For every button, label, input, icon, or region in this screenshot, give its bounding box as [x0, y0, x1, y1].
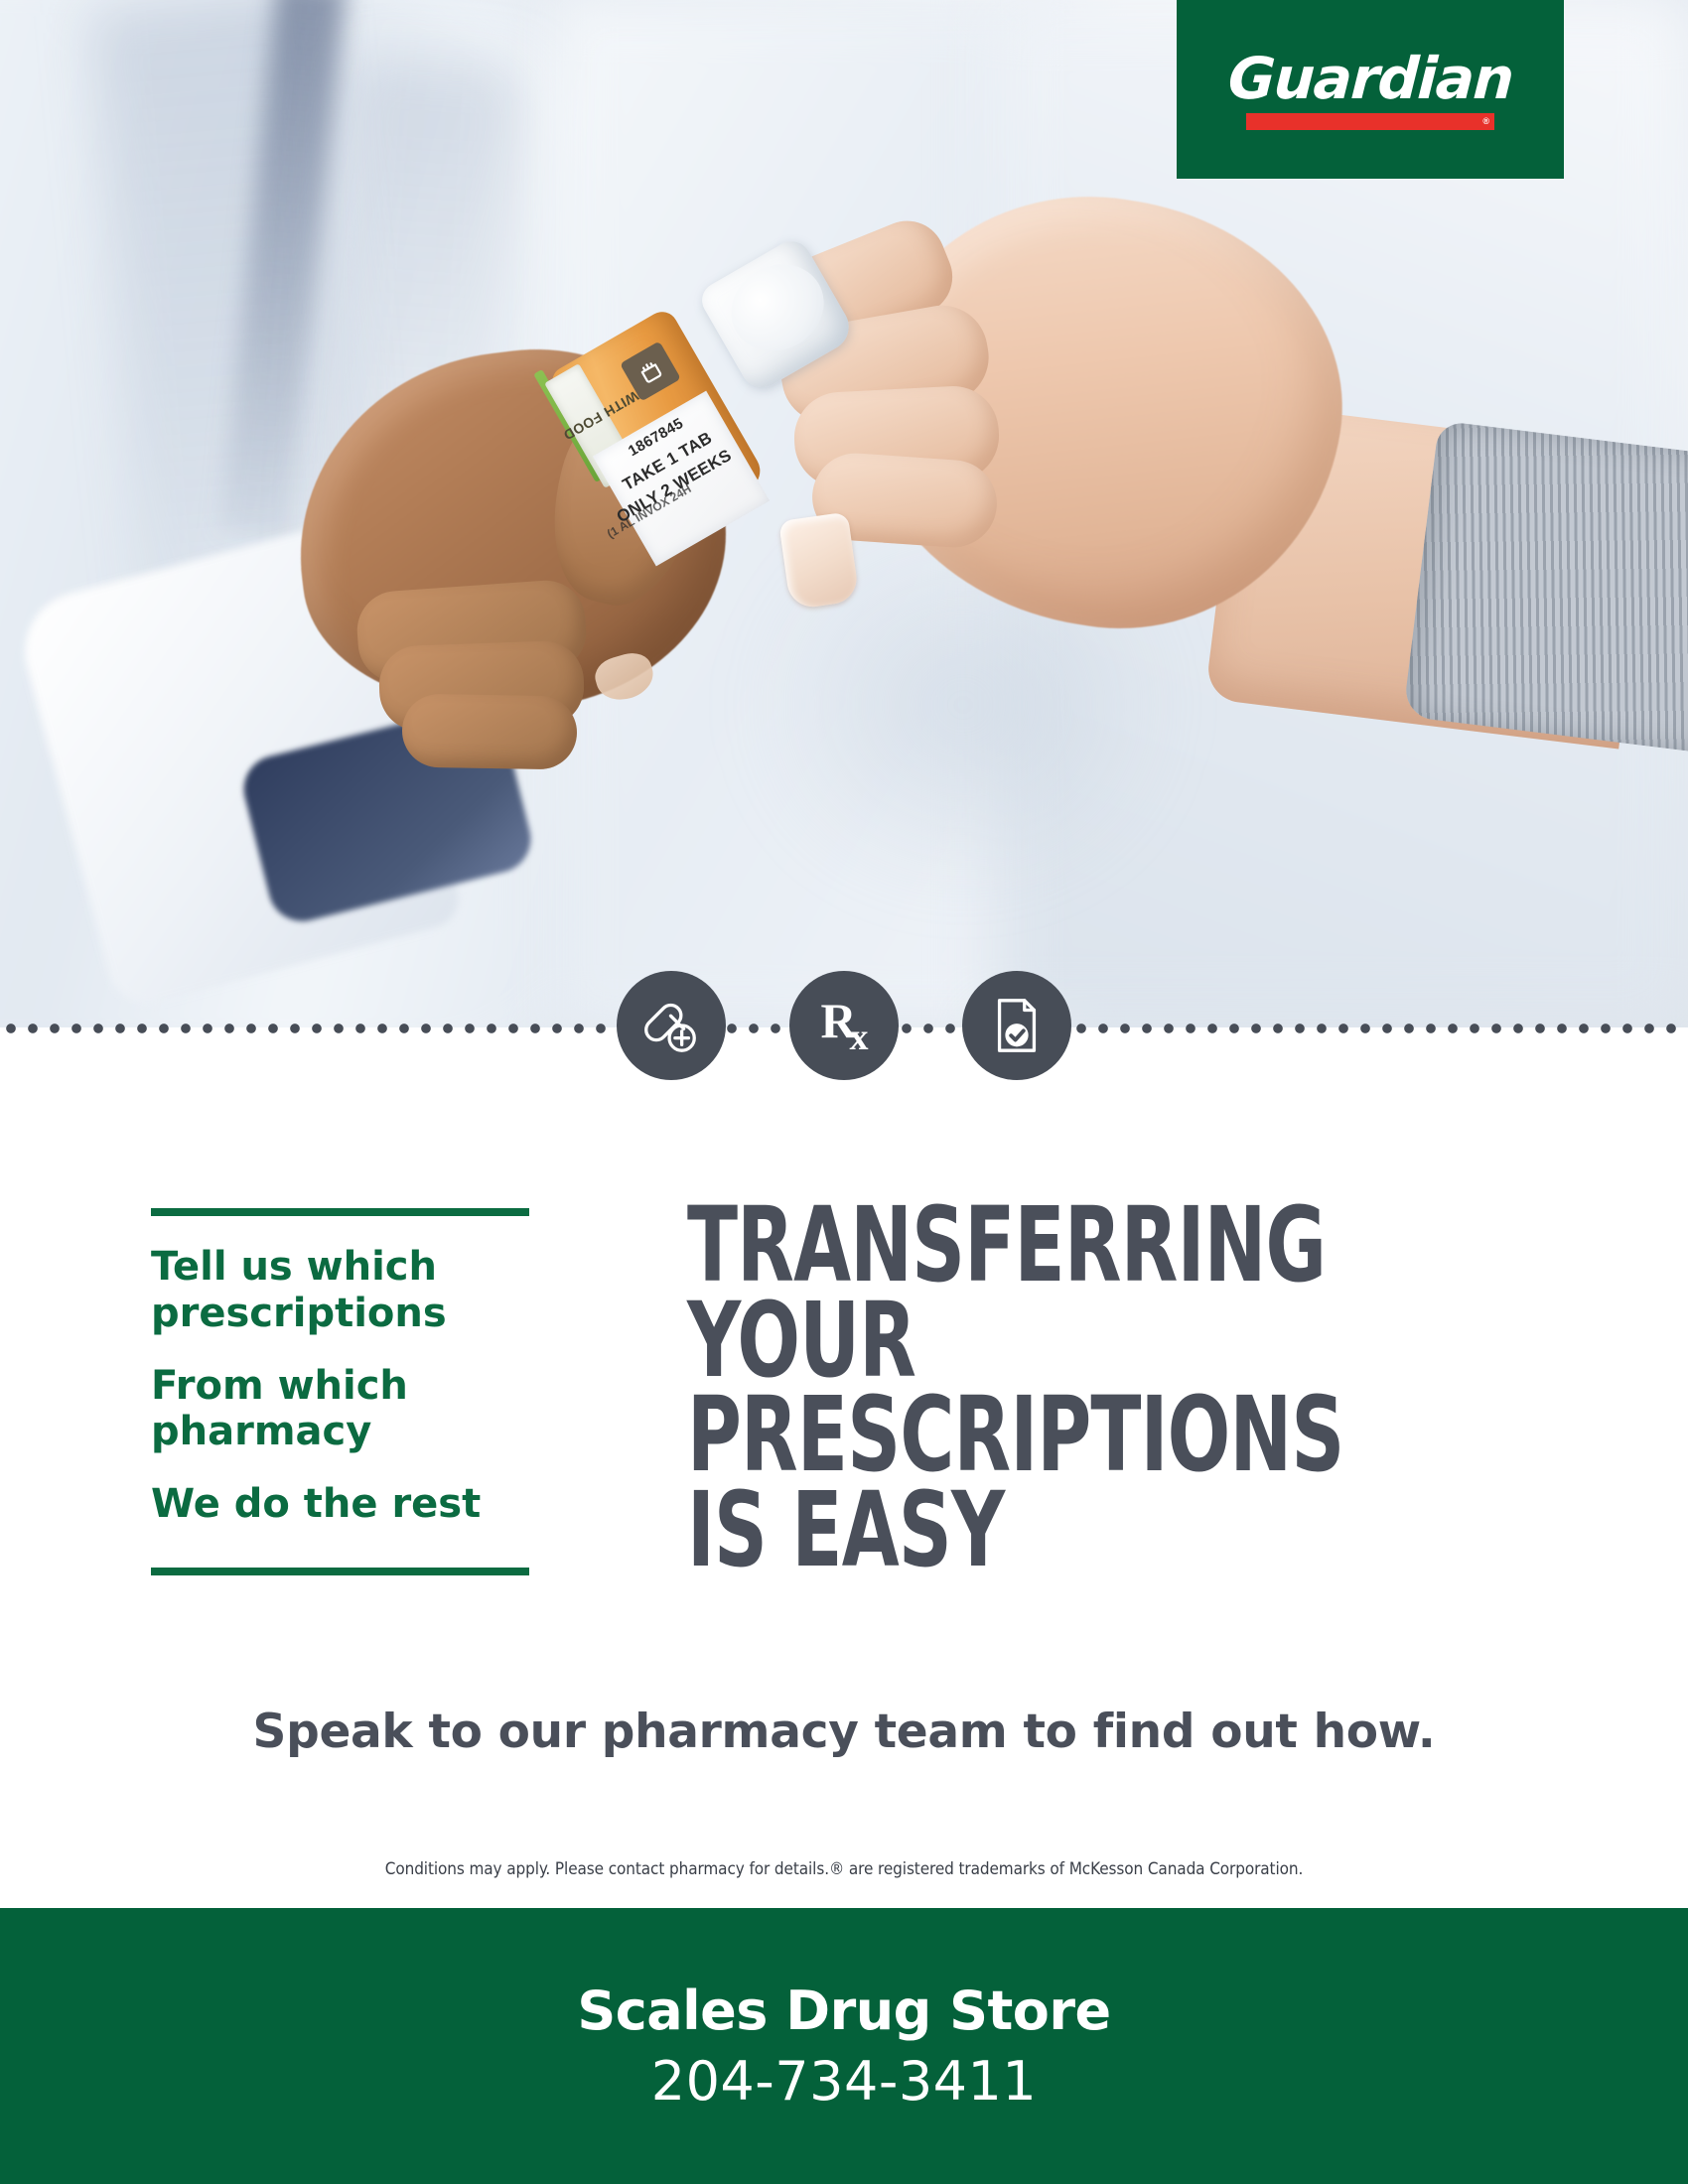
- step-item-3: We do the rest: [151, 1481, 533, 1528]
- registered-trademark-icon: ®: [1482, 117, 1489, 126]
- steps-rule-top: [151, 1208, 529, 1216]
- headline-line-4: IS EASY: [687, 1483, 1370, 1578]
- customer-thumbnail: [778, 512, 860, 611]
- step-item-1: Tell us which prescriptions: [151, 1244, 533, 1337]
- store-name: Scales Drug Store: [577, 1979, 1110, 2042]
- steps-list: Tell us which prescriptions From which p…: [151, 1216, 533, 1544]
- step-item-2: From which pharmacy: [151, 1363, 533, 1456]
- logo-wordmark: Guardian: [1226, 50, 1514, 107]
- pharmacist-finger-3: [401, 693, 577, 769]
- store-phone[interactable]: 204-734-3411: [651, 2050, 1038, 2113]
- legal-disclaimer: Conditions may apply. Please contact pha…: [0, 1859, 1688, 1879]
- poster: TAKE WITH FOOD 1867845 TAKE 1 TAB ONLY 2…: [0, 0, 1688, 2184]
- logo-red-bar: ®: [1246, 113, 1494, 130]
- steps-block: Tell us which prescriptions From which p…: [151, 1208, 533, 1575]
- store-footer: Scales Drug Store 204-734-3411: [0, 1908, 1688, 2184]
- steps-rule-bottom: [151, 1568, 529, 1575]
- page-title: TRANSFERRING YOUR PRESCRIPTIONS IS EASY: [687, 1198, 1370, 1578]
- customer-knit-sleeve: [1403, 420, 1688, 751]
- guardian-logo: Guardian ®: [1177, 0, 1564, 179]
- content-area: Tell us which prescriptions From which p…: [0, 1027, 1688, 1908]
- tagline: Speak to our pharmacy team to find out h…: [0, 1705, 1688, 1759]
